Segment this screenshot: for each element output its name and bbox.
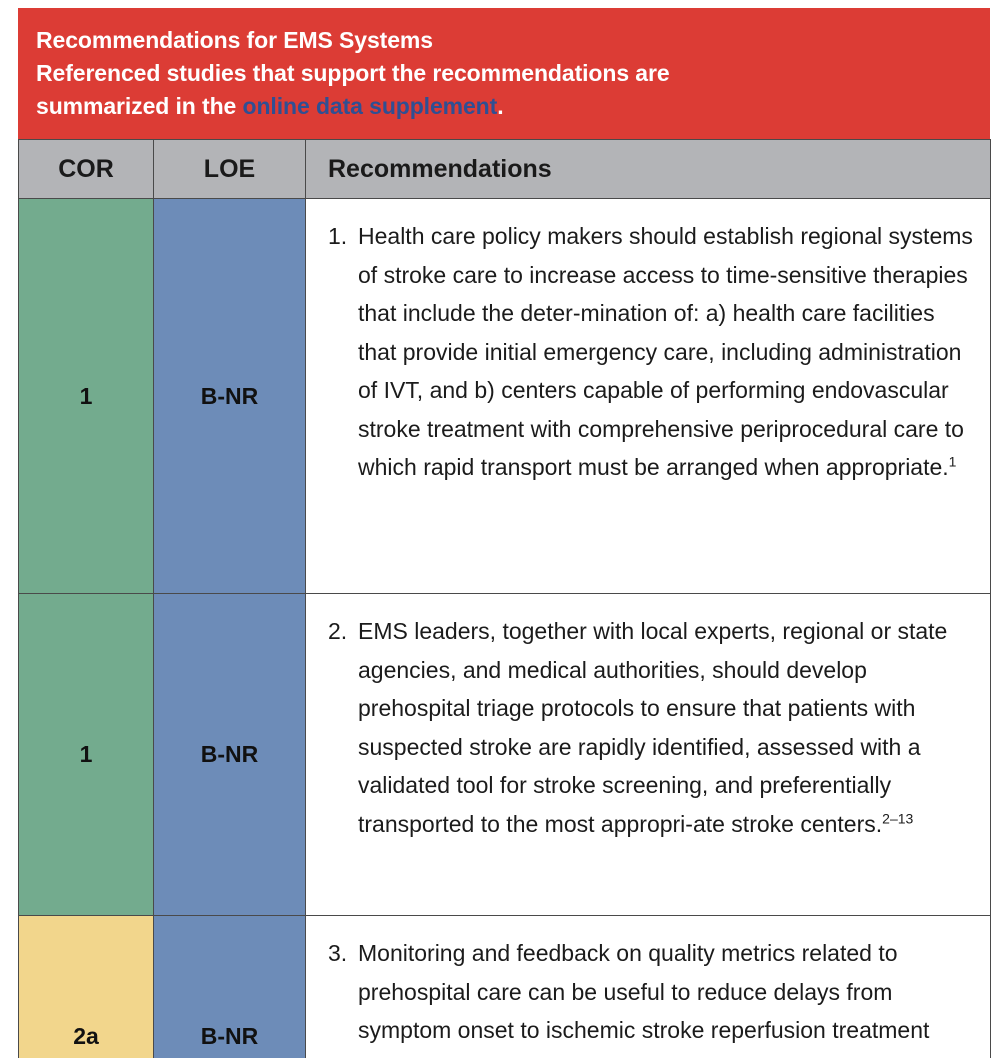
recommendation-item: 1. Health care policy makers should esta… xyxy=(328,217,974,487)
recommendation-item: 2. EMS leaders, together with local expe… xyxy=(328,612,974,843)
table-row: 2a B-NR 3. Monitoring and feedback on qu… xyxy=(19,916,991,1058)
banner-subtitle-period: . xyxy=(497,93,503,119)
recommendation-body: Health care policy makers should establi… xyxy=(358,223,973,480)
recommendation-text: Health care policy makers should establi… xyxy=(358,217,974,487)
table-header: COR LOE Recommendations xyxy=(19,140,991,199)
column-header-cor: COR xyxy=(19,140,154,199)
recommendation-item: 3. Monitoring and feedback on quality me… xyxy=(328,934,974,1058)
recommendation-cell: 3. Monitoring and feedback on quality me… xyxy=(306,916,991,1058)
online-data-supplement-link[interactable]: online data supplement xyxy=(243,93,498,119)
recommendation-number: 2. xyxy=(328,612,358,651)
table-row: 1 B-NR 2. EMS leaders, together with loc… xyxy=(19,594,991,916)
loe-cell: B-NR xyxy=(154,594,306,916)
recommendations-table: COR LOE Recommendations 1 B-NR 1. Health… xyxy=(18,139,991,1058)
recommendation-text: Monitoring and feedback on quality metri… xyxy=(358,934,974,1058)
recommendation-body: Monitoring and feedback on quality metri… xyxy=(358,940,929,1058)
table-row: 1 B-NR 1. Health care policy makers shou… xyxy=(19,199,991,594)
column-header-loe: LOE xyxy=(154,140,306,199)
loe-cell: B-NR xyxy=(154,199,306,594)
banner: Recommendations for EMS Systems Referenc… xyxy=(18,8,990,139)
recommendation-number: 1. xyxy=(328,217,358,256)
recommendation-reference: 1 xyxy=(949,453,957,469)
table-header-row: COR LOE Recommendations xyxy=(19,140,991,199)
recommendation-number: 3. xyxy=(328,934,358,973)
banner-subtitle-prefix: summarized in the xyxy=(36,93,243,119)
column-header-recommendations: Recommendations xyxy=(306,140,991,199)
banner-subtitle-line1: Referenced studies that support the reco… xyxy=(36,57,972,90)
recommendation-body: EMS leaders, together with local experts… xyxy=(358,618,947,837)
banner-subtitle-line2: summarized in the online data supplement… xyxy=(36,90,972,123)
recommendations-table-page: Recommendations for EMS Systems Referenc… xyxy=(0,0,1004,1058)
cor-cell: 1 xyxy=(19,199,154,594)
loe-cell: B-NR xyxy=(154,916,306,1058)
banner-title: Recommendations for EMS Systems xyxy=(36,24,972,57)
recommendation-reference: 2–13 xyxy=(882,810,913,826)
recommendation-text: EMS leaders, together with local experts… xyxy=(358,612,974,843)
recommendation-cell: 1. Health care policy makers should esta… xyxy=(306,199,991,594)
table-body: 1 B-NR 1. Health care policy makers shou… xyxy=(19,199,991,1058)
recommendation-cell: 2. EMS leaders, together with local expe… xyxy=(306,594,991,916)
cor-cell: 1 xyxy=(19,594,154,916)
cor-cell: 2a xyxy=(19,916,154,1058)
